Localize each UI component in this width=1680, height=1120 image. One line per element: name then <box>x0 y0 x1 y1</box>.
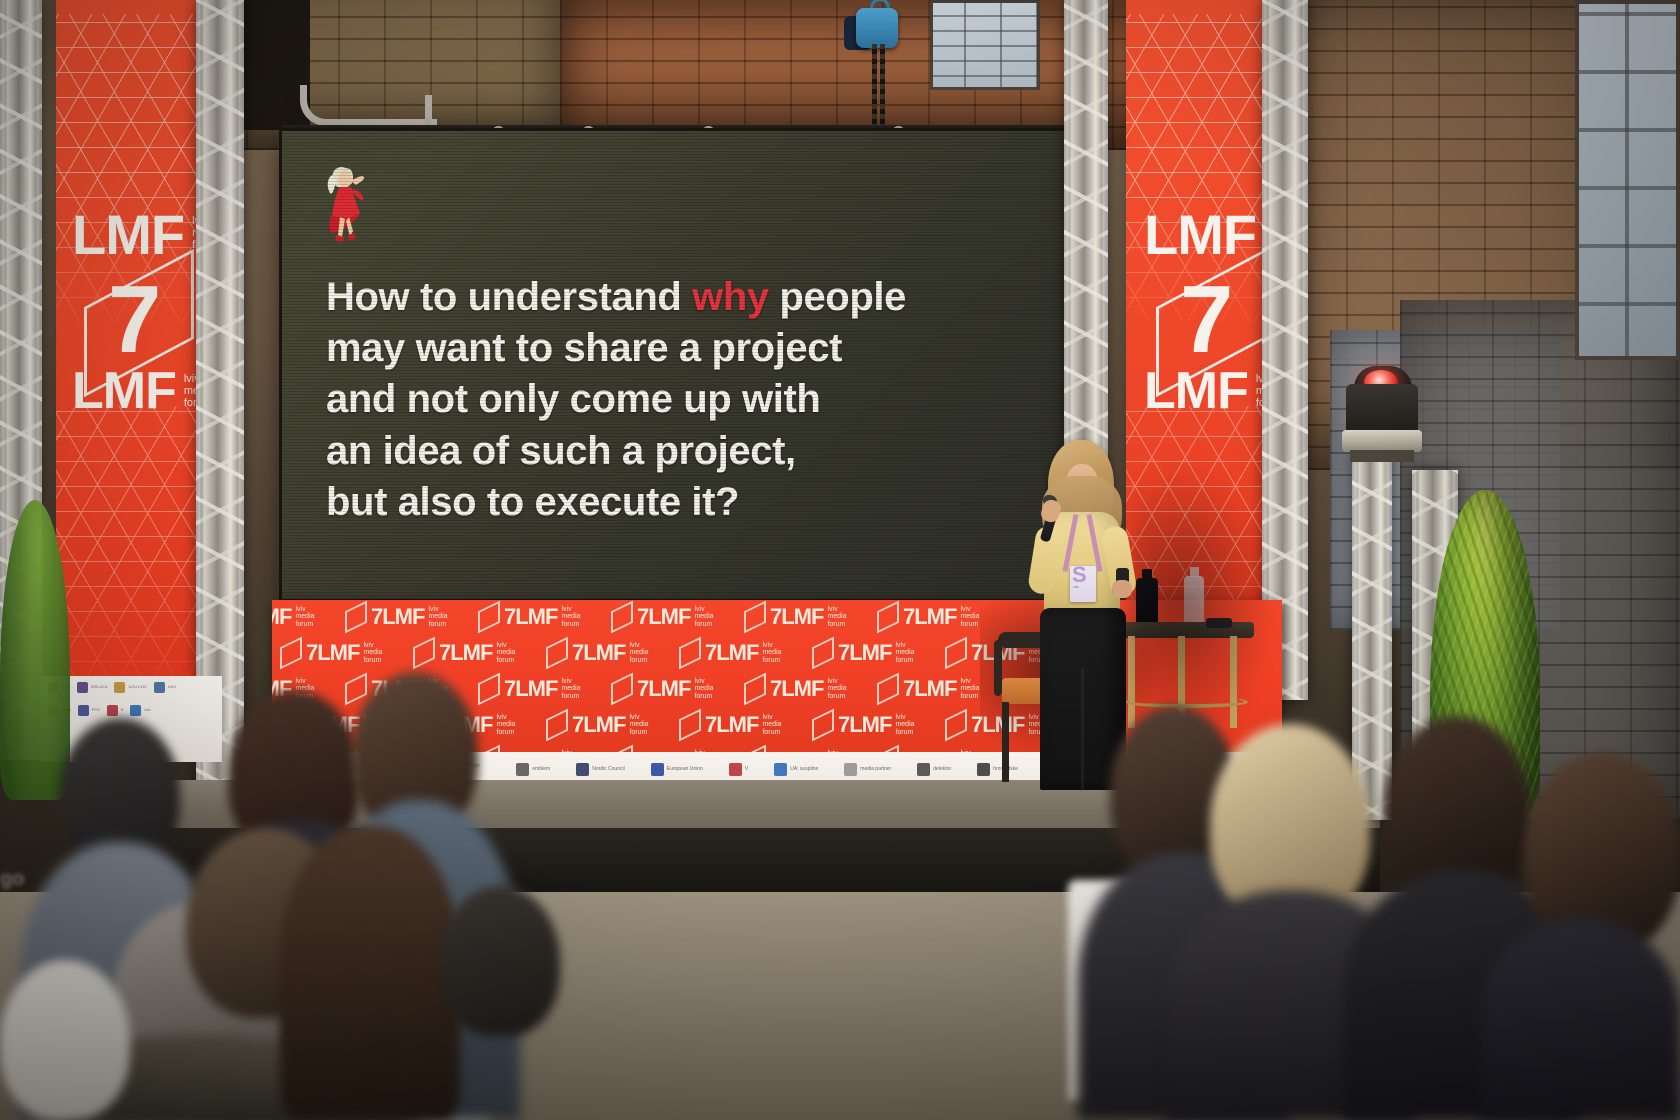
left-board-logo-label: UCU LVIV <box>128 685 146 689</box>
sponsor-logo: media partner <box>844 763 891 776</box>
sponsor-logo: UA: suspilne <box>774 763 818 776</box>
backdrop-logo-text: 7LMF <box>770 676 823 702</box>
sponsor-logo-mark <box>651 763 664 776</box>
left-board-logo-label: 205 UCU <box>91 685 107 689</box>
backdrop-logo-repeat: 7LMFlvivmediaforum <box>812 712 915 738</box>
backdrop-logo-text: 7LMF <box>504 676 557 702</box>
audience-head <box>280 826 460 1120</box>
backdrop-logo-sub: lvivmediaforum <box>960 606 979 628</box>
backdrop-logo-repeat: 7LMFlvivmediaforum <box>744 604 847 630</box>
backdrop-cube-icon <box>546 709 568 742</box>
backdrop-logo-repeat: 7LMFlvivmediaforum <box>546 712 649 738</box>
sponsor-logo-mark <box>844 763 857 776</box>
chair-leg <box>1002 702 1009 782</box>
backdrop-cube-icon <box>345 601 367 634</box>
badge-sublabel: LMF <box>1073 586 1079 590</box>
backdrop-cube-icon <box>744 673 766 706</box>
backdrop-logo-sub: lvivmediaforum <box>496 642 515 664</box>
banner-cube-pattern-lower <box>56 406 206 686</box>
backdrop-logo-text: 7LMF <box>572 712 625 738</box>
left-board-logo-mark <box>154 682 165 693</box>
backdrop-cube-icon <box>679 637 701 670</box>
backdrop-cube-icon <box>611 601 633 634</box>
badge-letter: S <box>1072 566 1087 586</box>
backdrop-logo-repeat: 7LMFlvivmediaforum <box>546 640 649 666</box>
left-board-logo-mark <box>107 705 118 716</box>
sponsor-logo-mark <box>576 763 589 776</box>
sponsor-logo-mark <box>774 763 787 776</box>
backdrop-logo-sub: lvivmediaforum <box>561 678 580 700</box>
sponsor-logo-label: V <box>745 767 748 773</box>
left-board-logo: LVIV <box>154 682 176 693</box>
sponsor-logo: V <box>729 763 748 776</box>
backdrop-logo-text: 7LMF <box>637 604 690 630</box>
backdrop-cube-icon <box>877 601 899 634</box>
backdrop-logo-text: 7LMF <box>637 676 690 702</box>
backdrop-logo-text: 7LMF <box>903 676 956 702</box>
backdrop-logo-repeat: 7LMFlvivmediaforum <box>877 604 980 630</box>
sponsor-logo: Nordic Council <box>576 763 625 776</box>
backdrop-logo-sub: lvivmediaforum <box>496 714 515 736</box>
backdrop-logo-sub: lvivmediaforum <box>629 642 648 664</box>
backdrop-logo-repeat: 7LMFlvivmediaforum <box>679 712 782 738</box>
speaker-shadow <box>1128 455 1278 755</box>
backdrop-logo-sub: lvivmediaforum <box>694 678 713 700</box>
audience-person <box>1480 918 1680 1120</box>
backdrop-logo-repeat: 7LMFlvivmediaforum <box>272 604 315 630</box>
banner-edition-mark-right: 7 <box>1152 262 1264 372</box>
sponsor-logo-label: Nordic Council <box>592 767 625 773</box>
backdrop-logo-text: 7LMF <box>838 640 891 666</box>
backdrop-logo-sub: lvivmediaforum <box>428 606 447 628</box>
backdrop-cube-icon <box>413 637 435 670</box>
backdrop-cube-icon <box>945 709 967 742</box>
backdrop-cube-icon <box>744 601 766 634</box>
left-board-logo: UA: <box>130 705 151 716</box>
banner-lmf-wordmark: LMF <box>72 212 184 258</box>
edition-number-7: 7 <box>108 272 161 368</box>
sponsor-logo-mark <box>516 763 529 776</box>
sponsor-logo-mark <box>977 763 990 776</box>
sponsor-logo-label: European Union <box>667 767 703 773</box>
backdrop-logo-repeat: 7LMFlvivmediaforum <box>478 604 581 630</box>
truss-tower <box>196 0 244 790</box>
backdrop-logo-text: 7LMF <box>439 640 492 666</box>
backdrop-logo-text: 7LMF <box>705 640 758 666</box>
backdrop-cube-icon <box>280 637 302 670</box>
backdrop-logo-sub: lvivmediaforum <box>295 606 314 628</box>
window-far-right <box>1575 0 1680 360</box>
backdrop-logo-repeat: 7LMFlvivmediaforum <box>280 640 383 666</box>
backdrop-logo-repeat: 7LMFlvivmediaforum <box>345 604 448 630</box>
left-board-logo: V <box>107 705 124 716</box>
backdrop-logo-sub: lvivmediaforum <box>363 642 382 664</box>
backdrop-logo-repeat: 7LMFlvivmediaforum <box>744 676 847 702</box>
left-board-logo-label: FFO <box>92 708 100 712</box>
hoist-chain-secondary <box>880 44 885 130</box>
sponsor-logo-mark <box>917 763 930 776</box>
backdrop-logo-sub: lvivmediaforum <box>895 642 914 664</box>
slide-line-3: and not only come up with <box>326 374 1026 425</box>
left-board-logo: FFO <box>78 705 100 716</box>
light-base-clamp <box>1350 450 1414 462</box>
left-board-logo-mark <box>78 705 89 716</box>
backdrop-cube-icon <box>945 637 967 670</box>
backdrop-logo-repeat: 7LMFlvivmediaforum <box>478 676 581 702</box>
left-board-logo: UCU LVIV <box>114 682 146 693</box>
left-vertical-banner: LMF lviv media forum 7 LMF lviv media fo… <box>56 0 206 700</box>
backdrop-logo-sub: lvivmediaforum <box>827 678 846 700</box>
edition-number-7-right: 7 <box>1180 272 1233 368</box>
backdrop-logo-repeat: 7LMFlvivmediaforum <box>679 640 782 666</box>
banner-edition-mark: 7 <box>80 262 192 372</box>
left-board-logo: 205 UCU <box>77 682 107 693</box>
audience-head <box>0 960 130 1120</box>
backdrop-logo-text: 7LMF <box>705 712 758 738</box>
hoist-blue-housing <box>856 8 898 48</box>
backdrop-logo-text: 7LMF <box>572 640 625 666</box>
backdrop-cube-icon <box>812 637 834 670</box>
slide-line-5: but also to execute it? <box>326 477 1026 528</box>
backdrop-logo-repeat: 7LMFlvivmediaforum <box>413 640 516 666</box>
slide-line-2: may want to share a project <box>326 323 1026 374</box>
backdrop-cube-icon <box>812 709 834 742</box>
audience-head <box>440 886 560 1036</box>
backdrop-cube-icon <box>345 673 367 706</box>
dancing-woman-emoji-svg <box>320 163 376 245</box>
sponsor-logo: emblem <box>516 763 550 776</box>
backdrop-logo-text: 7LMF <box>272 604 291 630</box>
ceiling-conduit-pipe <box>300 85 437 126</box>
backdrop-logo-sub: lvivmediaforum <box>629 714 648 736</box>
left-board-logo-label: V <box>121 708 124 712</box>
light-base <box>1342 430 1422 452</box>
backdrop-logo-text: 7LMF <box>306 640 359 666</box>
led-presentation-screen[interactable]: How to understand why peoplemay want to … <box>282 131 1064 599</box>
backdrop-logo-sub: lvivmediaforum <box>895 714 914 736</box>
backdrop-logo-repeat: 7LMFlvivmediaforum <box>877 676 980 702</box>
left-board-logo-label: UA: <box>144 708 151 712</box>
sponsor-logo-mark <box>729 763 742 776</box>
backdrop-cube-icon <box>546 637 568 670</box>
chair-armrest-left <box>994 640 1002 696</box>
backdrop-logo-text: 7LMF <box>371 604 424 630</box>
backdrop-logo-repeat: 7LMFlvivmediaforum <box>611 676 714 702</box>
dancing-woman-emoji <box>320 163 376 245</box>
chain-hoist <box>840 0 910 140</box>
backdrop-cube-icon <box>478 601 500 634</box>
left-board-logo-mark <box>77 682 88 693</box>
backdrop-logo-sub: lvivmediaforum <box>762 714 781 736</box>
backdrop-logo-text: 7LMF <box>903 604 956 630</box>
backdrop-logo-sub: lvivmediaforum <box>960 678 979 700</box>
slide-line-4: an idea of such a project, <box>326 426 1026 477</box>
slide-highlight-why: why <box>692 275 769 319</box>
backdrop-logo-sub: lvivmediaforum <box>694 606 713 628</box>
slide-line-1: How to understand why people <box>326 272 1026 323</box>
backdrop-logo-text: 7LMF <box>504 604 557 630</box>
conference-stage-photo: LMF lviv media forum 7 LMF lviv media fo… <box>0 0 1680 1120</box>
truss-tower <box>1352 430 1392 820</box>
watermark-text: go <box>0 868 24 891</box>
window-top-center <box>930 0 1040 90</box>
backdrop-logo-sub: lvivmediaforum <box>561 606 580 628</box>
banner-lmf-wordmark-right: LMF <box>1144 212 1256 258</box>
backdrop-logo-text: 7LMF <box>838 712 891 738</box>
left-board-logo-mark <box>114 682 125 693</box>
sponsor-logo: European Union <box>651 763 703 776</box>
sponsor-logo-label: UA: suspilne <box>790 767 818 773</box>
backdrop-logo-sub: lvivmediaforum <box>762 642 781 664</box>
left-board-logo-mark <box>130 705 141 716</box>
backdrop-cube-icon <box>877 673 899 706</box>
speaker-badge: S LMF <box>1070 566 1096 602</box>
backdrop-logo-repeat: 7LMFlvivmediaforum <box>812 640 915 666</box>
left-board-logo-label: LVIV <box>168 685 176 689</box>
sponsor-logo-label: media partner <box>860 767 891 773</box>
slide-headline: How to understand why peoplemay want to … <box>326 272 1026 528</box>
sponsor-logo-label: emblem <box>532 767 550 773</box>
sponsor-logo-label: detektor <box>933 767 951 773</box>
moving-head-stage-light <box>1340 366 1424 478</box>
speaker-hand-right <box>1112 580 1132 598</box>
backdrop-cube-icon <box>611 673 633 706</box>
sponsor-logo: detektor <box>917 763 951 776</box>
backdrop-cube-icon <box>478 673 500 706</box>
backdrop-logo-text: 7LMF <box>770 604 823 630</box>
backdrop-cube-icon <box>679 709 701 742</box>
backdrop-logo-sub: lvivmediaforum <box>827 606 846 628</box>
backdrop-logo-repeat: 7LMFlvivmediaforum <box>611 604 714 630</box>
